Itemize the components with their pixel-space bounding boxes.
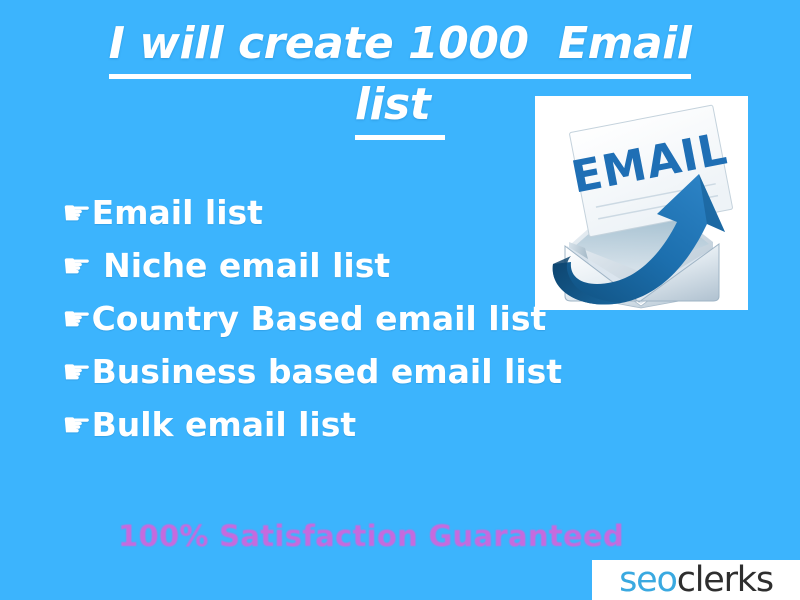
seoclerks-logo[interactable]: seoclerks xyxy=(592,560,800,600)
logo-text: seoclerks xyxy=(619,563,773,598)
email-list-service-poster: I will create 1000 Email list ☛Email lis… xyxy=(0,0,800,600)
guarantee-text: 100% Satisfaction Guaranteed xyxy=(118,519,624,553)
envelope-illustration: EMAIL xyxy=(535,96,748,310)
logo-seo-part: seo xyxy=(619,560,677,600)
title-line-2-text: list xyxy=(355,79,445,140)
email-envelope-graphic: EMAIL xyxy=(535,96,748,310)
title-line-1-text: I will create 1000 Email xyxy=(109,18,692,79)
title-line-1: I will create 1000 Email xyxy=(0,18,800,79)
logo-clerks-part: clerks xyxy=(677,560,773,600)
list-item: ☛Business based email list xyxy=(62,345,662,398)
list-item: ☛Bulk email list xyxy=(62,398,662,451)
